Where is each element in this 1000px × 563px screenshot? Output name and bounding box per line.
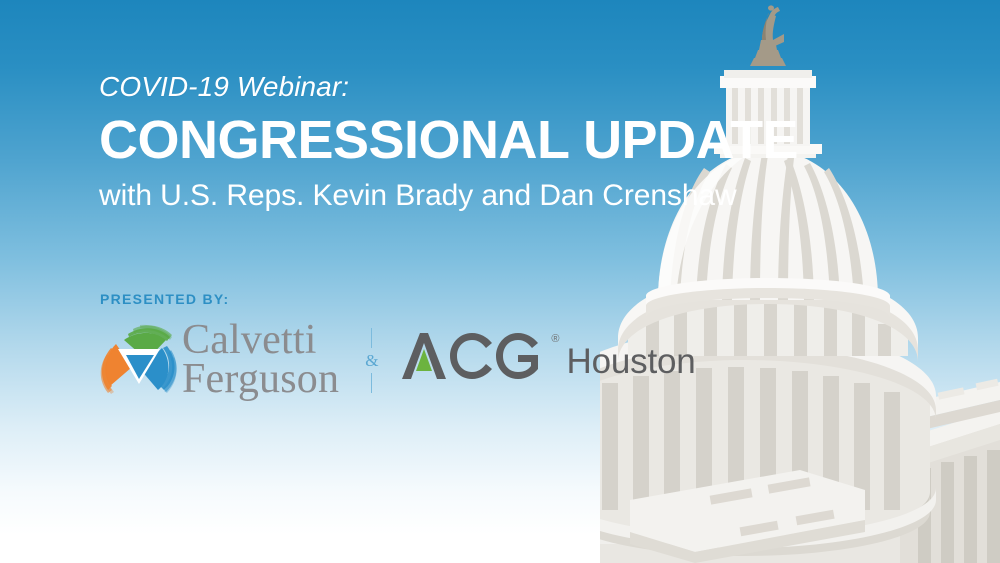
divider-bar-bottom <box>371 373 372 393</box>
calvetti-wordmark-line2: Ferguson <box>182 360 339 399</box>
sponsor-logo-acg-houston[interactable]: ® Houston <box>400 331 695 389</box>
logo-divider: & <box>365 327 378 393</box>
ampersand-separator: & <box>365 352 378 369</box>
sponsor-logo-row: Calvetti Ferguson & <box>100 321 696 400</box>
subtitle-text: with U.S. Reps. Kevin Brady and Dan Cren… <box>99 176 739 216</box>
registered-trademark-icon: ® <box>551 333 559 345</box>
eyebrow-text: COVID-19 Webinar: <box>99 70 739 104</box>
headline-block: COVID-19 Webinar: CONGRESSIONAL UPDATE w… <box>99 70 739 216</box>
acg-chapter-name: Houston <box>567 342 696 382</box>
webinar-promo-banner: COVID-19 Webinar: CONGRESSIONAL UPDATE w… <box>0 0 1000 563</box>
presented-by-label: PRESENTED BY: <box>100 291 696 307</box>
acg-acronym-mark <box>400 331 550 389</box>
calvetti-wordmark-line1: Calvetti <box>182 321 339 360</box>
calvetti-ferguson-wordmark: Calvetti Ferguson <box>182 321 339 400</box>
sponsor-logo-calvetti-ferguson[interactable]: Calvetti Ferguson <box>100 321 339 400</box>
presented-by-block: PRESENTED BY: <box>100 291 696 400</box>
page-title: CONGRESSIONAL UPDATE <box>99 110 739 170</box>
calvetti-ferguson-swirl-icon <box>100 324 178 396</box>
divider-bar-top <box>371 328 372 348</box>
